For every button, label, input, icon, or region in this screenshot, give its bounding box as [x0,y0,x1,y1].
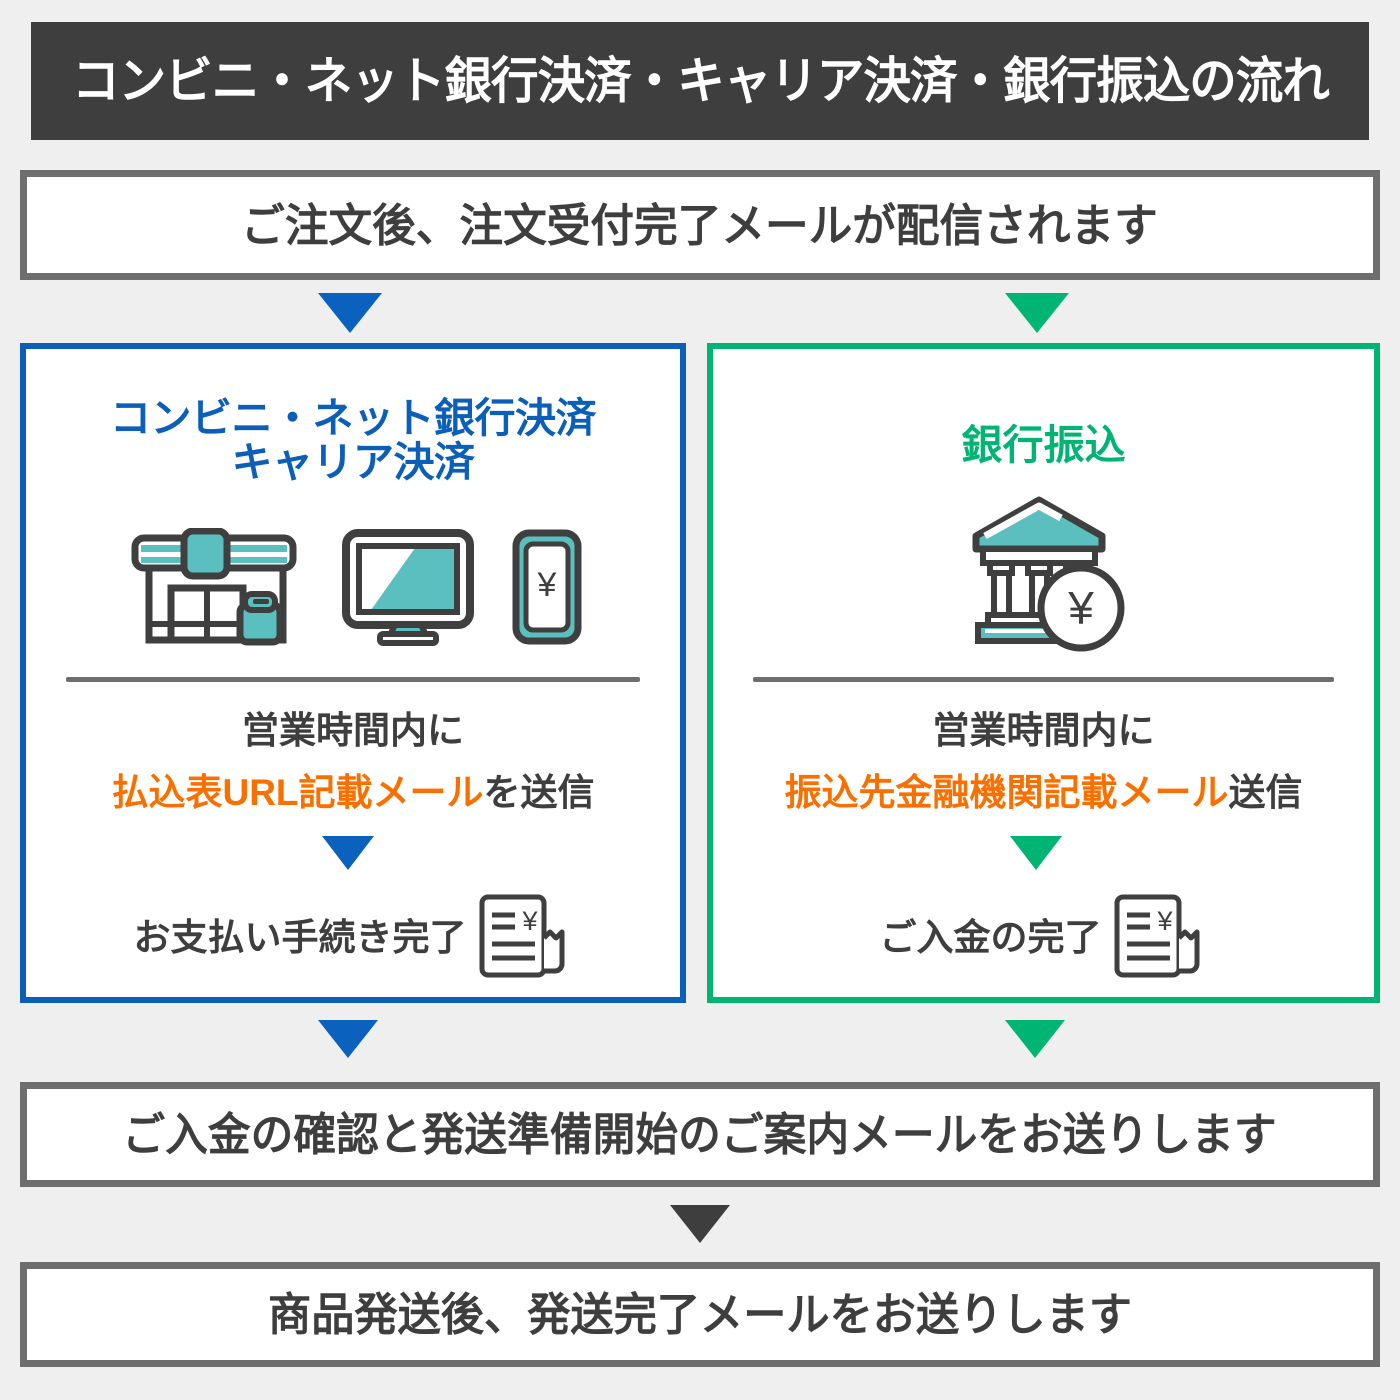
page-title: コンビニ・ネット銀行決済・キャリア決済・銀行振込の流れ [72,56,1329,106]
arrow-down-conveni-inner [322,836,374,870]
conveni-divider [66,677,640,682]
receipt-yen-icon: ¥ [1112,894,1208,980]
bank-icon-row: ¥ [713,497,1374,657]
svg-text:¥: ¥ [537,566,557,604]
conveni-final-text: お支払い手続き完了 [134,919,467,956]
arrow-down-to-conveni-icon [318,293,382,333]
conveni-line1: 営業時間内に [26,712,680,749]
arrow-down-to-shipped [670,1205,730,1243]
conveni-final-row: お支払い手続き完了 ¥ [26,894,680,980]
svg-text:¥: ¥ [521,906,538,936]
conveni-line2-suffix: を送信 [484,772,595,813]
arrow-down-conveni-to-confirm [318,1020,378,1058]
step-text-shipping-complete: 商品発送後、発送完了メールをお送りします [268,1292,1132,1337]
panel-title-conveni: コンビニ・ネット銀行決済 キャリア決済 [26,397,680,485]
step-box-shipping-complete: 商品発送後、発送完了メールをお送りします [20,1262,1380,1367]
panel-title-bank: 銀行振込 [713,424,1374,468]
bank-line2: 振込先金融機関記載メール送信 [713,774,1374,811]
conveni-icon-row: ¥ [26,531,680,651]
svg-text:¥: ¥ [1156,906,1173,936]
step-box-order-received: ご注文後、注文受付完了メールが配信されます [20,170,1380,280]
conveni-line2: 払込表URL記載メールを送信 [26,774,680,811]
arrow-down-to-bank-icon [1005,293,1069,333]
bank-line2-suffix: 送信 [1229,772,1303,813]
receipt-yen-icon: ¥ [477,894,573,980]
step-box-payment-confirmed: ご入金の確認と発送準備開始のご案内メールをお送りします [20,1082,1380,1187]
bank-line2-highlight: 振込先金融機関記載メール [785,772,1229,813]
arrow-down-bank-to-confirm [1005,1020,1065,1058]
panel-bank-transfer: 銀行振込 ¥ [707,343,1380,1003]
conveni-line2-highlight: 払込表URL記載メール [111,772,483,813]
bank-building-yen-icon: ¥ [961,492,1127,657]
diagram-header: コンビニ・ネット銀行決済・キャリア決済・銀行振込の流れ [31,22,1369,140]
monitor-icon [341,528,475,651]
arrow-down-bank-inner [1010,836,1062,870]
smartphone-yen-icon: ¥ [511,528,583,651]
convenience-store-icon [123,528,305,651]
bank-final-row: ご入金の完了 ¥ [713,894,1374,980]
panel-conveni-net-carrier: コンビニ・ネット銀行決済 キャリア決済 [20,343,686,1003]
step-text-payment-confirmed: ご入金の確認と発送準備開始のご案内メールをお送りします [123,1112,1277,1157]
bank-line1: 営業時間内に [713,712,1374,749]
bank-divider [753,677,1334,682]
bank-final-text: ご入金の完了 [880,919,1102,956]
payment-flow-diagram: コンビニ・ネット銀行決済・キャリア決済・銀行振込の流れ ご注文後、注文受付完了メ… [0,0,1400,1400]
step-text-order-received: ご注文後、注文受付完了メールが配信されます [242,203,1159,248]
svg-text:¥: ¥ [1067,582,1094,634]
